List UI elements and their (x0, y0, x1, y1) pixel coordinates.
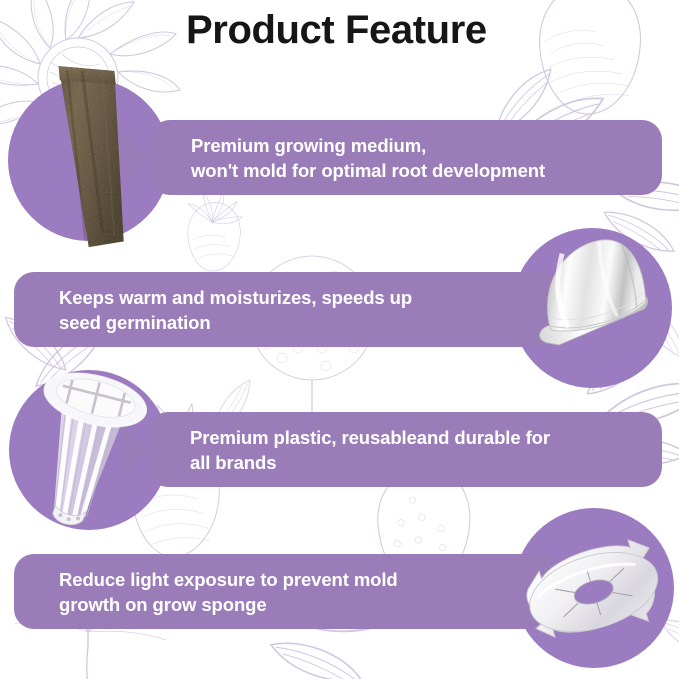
page-title: Product Feature (186, 6, 487, 54)
feature-text-premium-plastic: Premium plastic, reusableand durable for… (190, 425, 550, 475)
feature-text-warmth-moisture: Keeps warm and moisturizes, speeds up se… (59, 285, 412, 335)
feature-band-growing-medium: Premium growing medium, won't mold for o… (150, 120, 662, 195)
humidity-dome-cap-image (512, 228, 672, 388)
feature-text-growing-medium: Premium growing medium, won't mold for o… (191, 133, 545, 183)
feature-band-premium-plastic: Premium plastic, reusableand durable for… (148, 412, 662, 487)
product-feature-poster: Product Feature Premium growing medium, … (0, 0, 679, 679)
feature-band-warmth-moisture: Keeps warm and moisturizes, speeds up se… (14, 272, 560, 347)
feature-band-light-blocking: Reduce light exposure to prevent mold gr… (14, 554, 562, 629)
feature-text-light-blocking: Reduce light exposure to prevent mold gr… (59, 567, 398, 617)
clear-plastic-grow-basket-image (4, 360, 174, 540)
peat-soil-plug-image (8, 55, 178, 250)
light-blocking-disc-image (514, 508, 679, 673)
